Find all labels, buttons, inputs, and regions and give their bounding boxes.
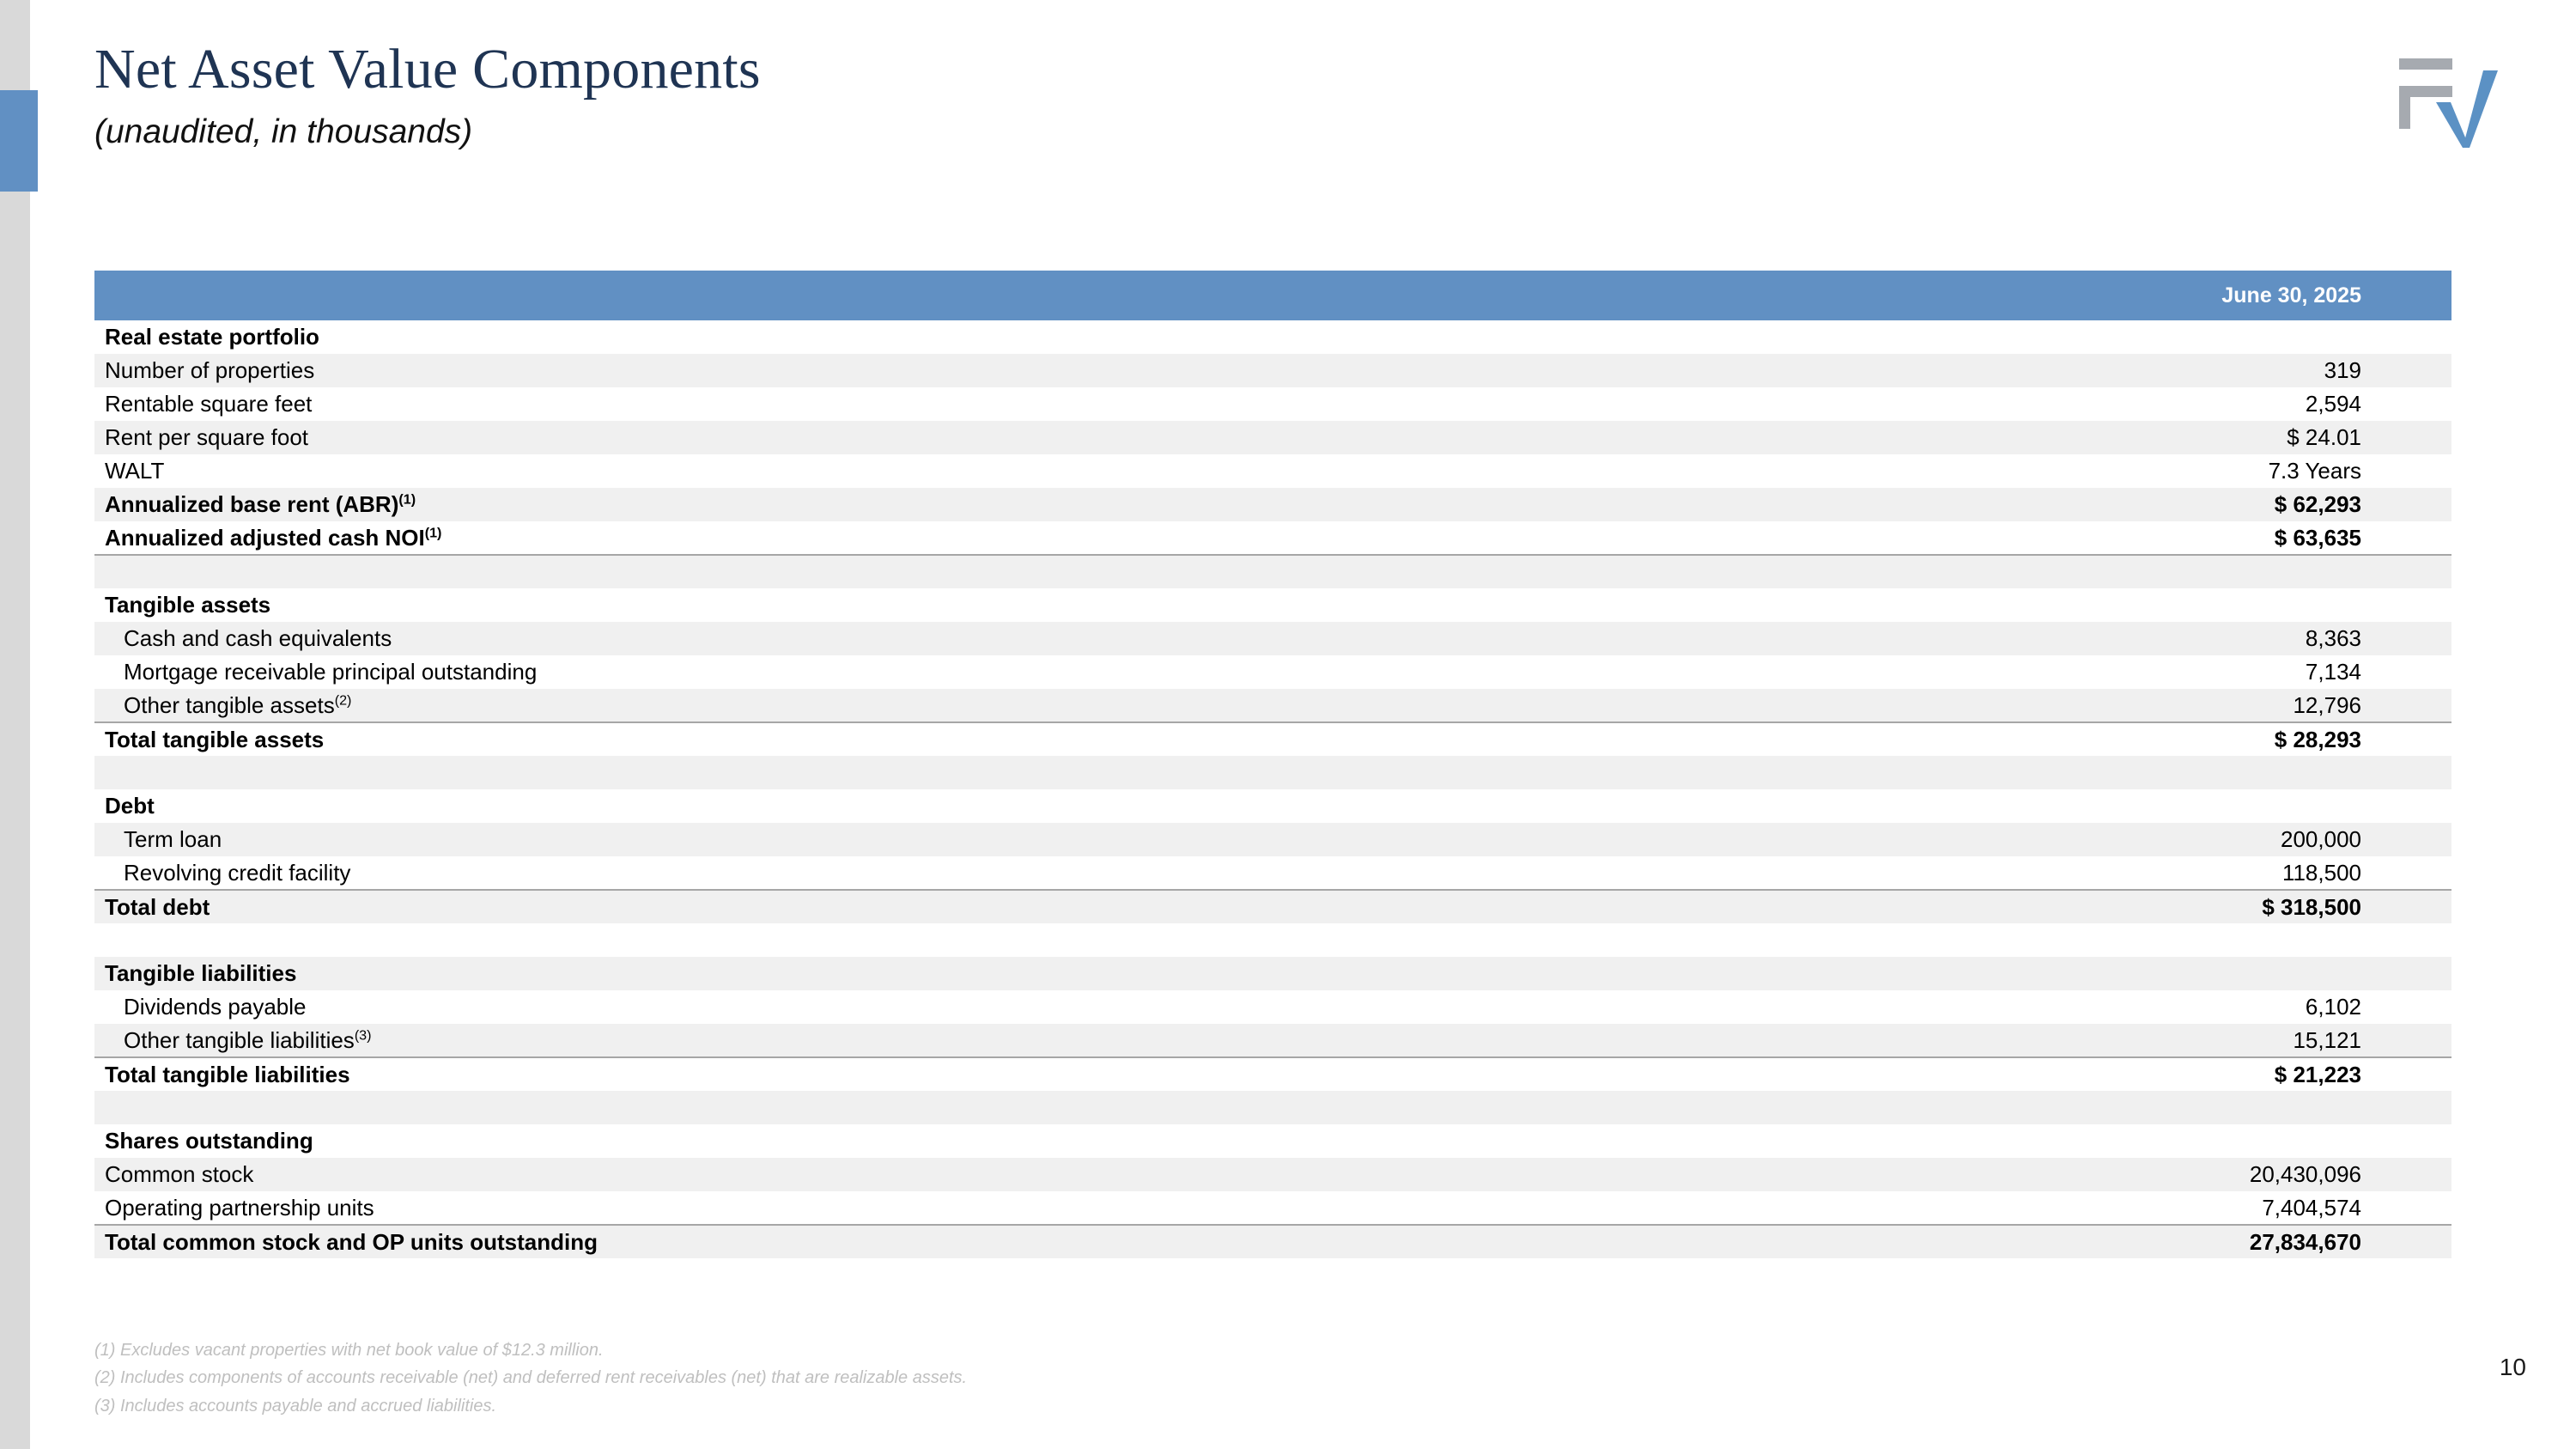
row-label: Total debt — [94, 890, 1876, 923]
row-label: Total tangible assets — [94, 722, 1876, 756]
table-row: Term loan200,000 — [94, 823, 2451, 856]
table-row: Tangible liabilities — [94, 957, 2451, 990]
row-value — [1876, 1091, 2451, 1124]
row-label: Common stock — [94, 1158, 1876, 1191]
column-header-label — [94, 271, 1876, 320]
table-row: Other tangible assets(2)12,796 — [94, 689, 2451, 722]
table-row: Total tangible assets$ 28,293 — [94, 722, 2451, 756]
row-label: Other tangible liabilities(3) — [94, 1024, 1876, 1057]
row-value: 6,102 — [1876, 990, 2451, 1024]
left-accent-block — [0, 90, 38, 192]
row-label: Annualized adjusted cash NOI(1) — [94, 521, 1876, 555]
row-label — [94, 756, 1876, 789]
row-value: 7,134 — [1876, 655, 2451, 689]
row-label: Rentable square feet — [94, 387, 1876, 421]
row-label: Real estate portfolio — [94, 320, 1876, 354]
footnote-2: (2) Includes components of accounts rece… — [94, 1364, 1812, 1391]
footnote-marker: (1) — [398, 491, 416, 507]
column-header-date: June 30, 2025 — [1876, 271, 2451, 320]
row-value — [1876, 1124, 2451, 1158]
row-value — [1876, 789, 2451, 823]
page-number: 10 — [2500, 1354, 2526, 1381]
row-value: $ 28,293 — [1876, 722, 2451, 756]
nav-components-table: June 30, 2025 Real estate portfolioNumbe… — [94, 271, 2451, 1258]
row-label: Other tangible assets(2) — [94, 689, 1876, 722]
row-value: 15,121 — [1876, 1024, 2451, 1057]
table-row: Total common stock and OP units outstand… — [94, 1225, 2451, 1258]
table-spacer-row — [94, 555, 2451, 588]
table-row: Revolving credit facility118,500 — [94, 856, 2451, 890]
row-label: Total common stock and OP units outstand… — [94, 1225, 1876, 1258]
table-row: Annualized adjusted cash NOI(1)$ 63,635 — [94, 521, 2451, 555]
row-value: 2,594 — [1876, 387, 2451, 421]
table-row: Rent per square foot$ 24.01 — [94, 421, 2451, 454]
table-row: Number of properties319 — [94, 354, 2451, 387]
row-value: 118,500 — [1876, 856, 2451, 890]
table-row: WALT7.3 Years — [94, 454, 2451, 488]
row-label: Shares outstanding — [94, 1124, 1876, 1158]
row-label: Revolving credit facility — [94, 856, 1876, 890]
row-value: $ 62,293 — [1876, 488, 2451, 521]
row-value: 7.3 Years — [1876, 454, 2451, 488]
table-row: Debt — [94, 789, 2451, 823]
row-value: 200,000 — [1876, 823, 2451, 856]
row-value: 7,404,574 — [1876, 1191, 2451, 1225]
row-label — [94, 923, 1876, 957]
table-row: Real estate portfolio — [94, 320, 2451, 354]
row-value: $ 24.01 — [1876, 421, 2451, 454]
table-row: Common stock20,430,096 — [94, 1158, 2451, 1191]
row-label: Debt — [94, 789, 1876, 823]
row-value — [1876, 320, 2451, 354]
row-value: $ 318,500 — [1876, 890, 2451, 923]
row-value — [1876, 957, 2451, 990]
row-value: 8,363 — [1876, 622, 2451, 655]
table-row: Total tangible liabilities$ 21,223 — [94, 1057, 2451, 1091]
slide-header: Net Asset Value Components (unaudited, i… — [94, 41, 2155, 151]
row-value — [1876, 555, 2451, 588]
table-spacer-row — [94, 923, 2451, 957]
table-row: Operating partnership units7,404,574 — [94, 1191, 2451, 1225]
row-label: Dividends payable — [94, 990, 1876, 1024]
row-value: 12,796 — [1876, 689, 2451, 722]
page-subtitle: (unaudited, in thousands) — [94, 113, 2155, 151]
row-value — [1876, 756, 2451, 789]
row-label: Mortgage receivable principal outstandin… — [94, 655, 1876, 689]
footnote-marker: (1) — [425, 525, 442, 540]
table-header-row: June 30, 2025 — [94, 271, 2451, 320]
row-value — [1876, 588, 2451, 622]
table-body: Real estate portfolioNumber of propertie… — [94, 320, 2451, 1258]
row-label: Number of properties — [94, 354, 1876, 387]
table-header: June 30, 2025 — [94, 271, 2451, 320]
row-label: Cash and cash equivalents — [94, 622, 1876, 655]
row-label — [94, 1091, 1876, 1124]
row-value: $ 63,635 — [1876, 521, 2451, 555]
table-row: Annualized base rent (ABR)(1)$ 62,293 — [94, 488, 2451, 521]
row-value: 27,834,670 — [1876, 1225, 2451, 1258]
row-label — [94, 555, 1876, 588]
footnote-3: (3) Includes accounts payable and accrue… — [94, 1392, 1812, 1420]
page-title: Net Asset Value Components — [94, 41, 2155, 98]
row-label: Total tangible liabilities — [94, 1057, 1876, 1091]
row-label: Tangible assets — [94, 588, 1876, 622]
row-value: $ 21,223 — [1876, 1057, 2451, 1091]
row-label: Rent per square foot — [94, 421, 1876, 454]
row-label: Term loan — [94, 823, 1876, 856]
footnote-marker: (3) — [355, 1027, 372, 1043]
table-row: Rentable square feet2,594 — [94, 387, 2451, 421]
left-edge-strip — [0, 0, 30, 1449]
row-label: Annualized base rent (ABR)(1) — [94, 488, 1876, 521]
footnote-marker: (2) — [335, 692, 352, 708]
table-row: Cash and cash equivalents8,363 — [94, 622, 2451, 655]
row-value: 20,430,096 — [1876, 1158, 2451, 1191]
table-spacer-row — [94, 756, 2451, 789]
table-row: Other tangible liabilities(3)15,121 — [94, 1024, 2451, 1057]
table-spacer-row — [94, 1091, 2451, 1124]
row-value — [1876, 923, 2451, 957]
row-value: 319 — [1876, 354, 2451, 387]
footnotes-block: (1) Excludes vacant properties with net … — [94, 1336, 1812, 1420]
table-row: Mortgage receivable principal outstandin… — [94, 655, 2451, 689]
table-row: Dividends payable6,102 — [94, 990, 2451, 1024]
footnote-1: (1) Excludes vacant properties with net … — [94, 1336, 1812, 1364]
row-label: WALT — [94, 454, 1876, 488]
row-label: Tangible liabilities — [94, 957, 1876, 990]
table-row: Tangible assets — [94, 588, 2451, 622]
table-row: Total debt$ 318,500 — [94, 890, 2451, 923]
row-label: Operating partnership units — [94, 1191, 1876, 1225]
table-row: Shares outstanding — [94, 1124, 2451, 1158]
fv-monogram-logo — [2397, 53, 2543, 161]
